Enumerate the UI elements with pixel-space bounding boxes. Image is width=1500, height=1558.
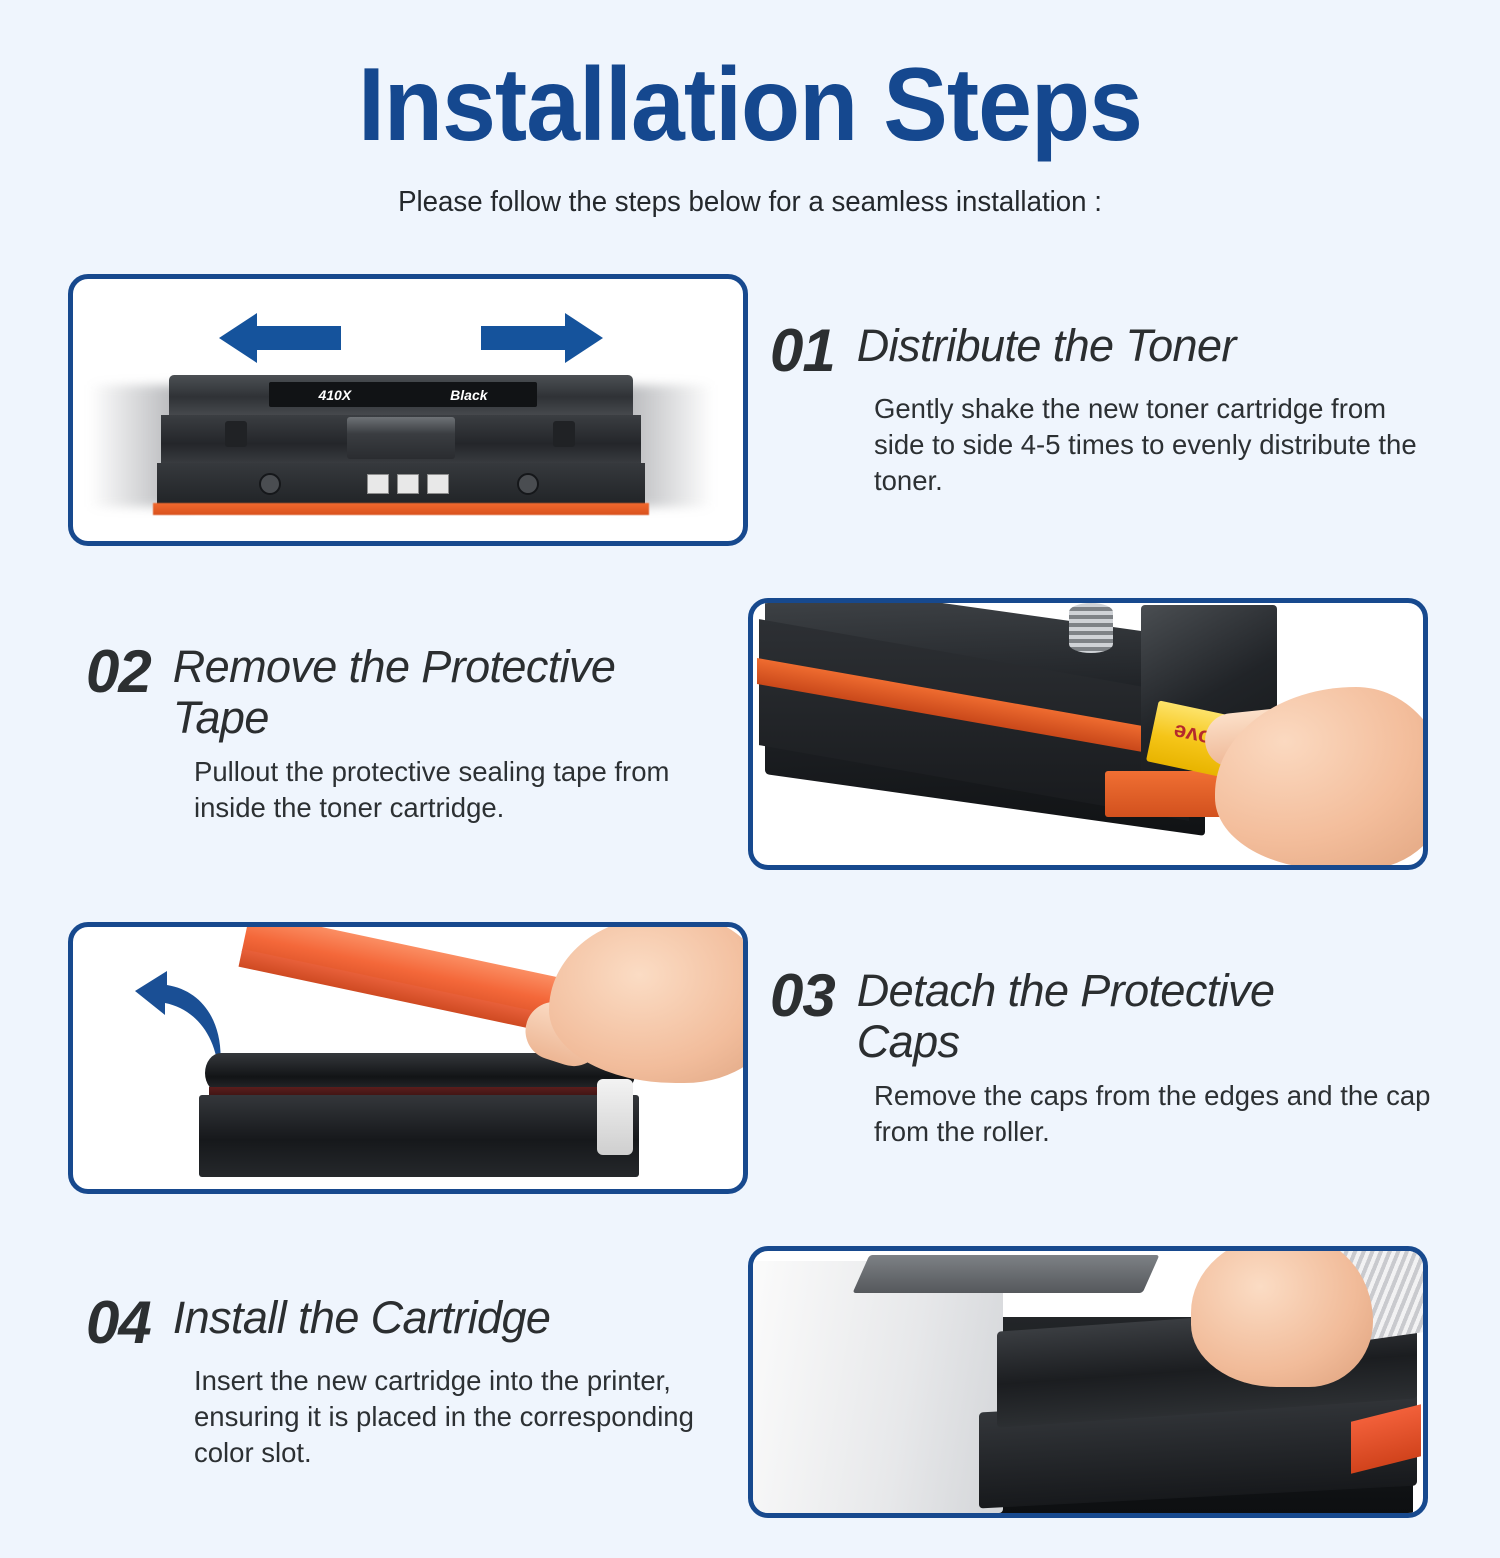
step-heading-03: 03 Detach the Protective Caps — [770, 966, 1464, 1068]
hand — [1191, 1246, 1373, 1387]
page-title: Installation Steps — [53, 52, 1448, 158]
cartridge-tab-left — [225, 421, 247, 447]
step-description-01: Gently shake the new toner cartridge fro… — [874, 391, 1434, 500]
printer-top-tray — [853, 1255, 1160, 1293]
step-row-04: 04 Install the Cartridge Insert the new … — [0, 1234, 1500, 1530]
illustration-install-cartridge — [753, 1251, 1423, 1513]
cartridge-white-gear — [597, 1079, 633, 1155]
step-heading-04: 04 Install the Cartridge — [86, 1293, 728, 1353]
cartridge-model-text: 410X — [318, 387, 351, 403]
cartridge-orange-cap — [153, 503, 649, 515]
step-title-04: Install the Cartridge — [173, 1293, 551, 1344]
arrow-right-icon — [481, 311, 603, 365]
step-title-03: Detach the Protective Caps — [857, 966, 1387, 1068]
step-text-04: 04 Install the Cartridge Insert the new … — [0, 1293, 748, 1472]
step-row-01: 410X Black 01 — [0, 262, 1500, 558]
arrow-left-icon — [219, 311, 341, 365]
toner-cartridge-graphic: 410X Black — [151, 375, 651, 515]
step-image-panel-01: 410X Black — [68, 274, 748, 546]
illustration-remove-sealing-tape: Remove — [753, 603, 1423, 865]
step-title-02: Remove the Protective Tape — [173, 642, 703, 744]
step-number-01: 01 — [770, 321, 835, 381]
step-description-04: Insert the new cartridge into the printe… — [194, 1363, 728, 1472]
cartridge-body — [199, 1095, 639, 1177]
cartridge-color-text: Black — [450, 387, 487, 403]
step-image-panel-04 — [748, 1246, 1428, 1518]
step-image-panel-02: Remove — [748, 598, 1428, 870]
step-text-03: 03 Detach the Protective Caps Remove the… — [748, 966, 1500, 1150]
cartridge-spring — [1069, 603, 1113, 653]
step-description-02: Pullout the protective sealing tape from… — [194, 754, 728, 827]
page-subtitle: Please follow the steps below for a seam… — [23, 186, 1478, 219]
step-heading-02: 02 Remove the Protective Tape — [86, 642, 728, 744]
step-text-01: 01 Distribute the Toner Gently shake the… — [748, 321, 1500, 500]
step-title-01: Distribute the Toner — [857, 321, 1236, 372]
step-number-02: 02 — [86, 642, 151, 702]
step-heading-01: 01 Distribute the Toner — [770, 321, 1464, 381]
page-header: Installation Steps Please follow the ste… — [0, 0, 1500, 219]
cartridge-grip — [347, 417, 455, 459]
step-description-03: Remove the caps from the edges and the c… — [874, 1078, 1434, 1151]
cartridge-tab-right — [553, 421, 575, 447]
step-number-04: 04 — [86, 1293, 151, 1353]
step-image-panel-03 — [68, 922, 748, 1194]
step-text-02: 02 Remove the Protective Tape Pullout th… — [0, 642, 748, 826]
cartridge-icon-1 — [367, 474, 389, 494]
step-row-02: Remove 02 Remove the Protective Tape Pul… — [0, 586, 1500, 882]
step-number-03: 03 — [770, 966, 835, 1026]
cartridge-icon-2 — [397, 474, 419, 494]
step-row-03: 03 Detach the Protective Caps Remove the… — [0, 910, 1500, 1206]
installation-steps-list: 410X Black 01 — [0, 262, 1500, 1558]
illustration-toner-cartridge-shake: 410X Black — [73, 279, 743, 541]
cartridge-port-right — [517, 473, 539, 495]
illustration-detach-protective-cap — [73, 927, 743, 1189]
cartridge-label: 410X Black — [269, 382, 537, 407]
printer-body — [753, 1261, 1003, 1513]
cartridge-icon-3 — [427, 474, 449, 494]
cartridge-port-left — [259, 473, 281, 495]
